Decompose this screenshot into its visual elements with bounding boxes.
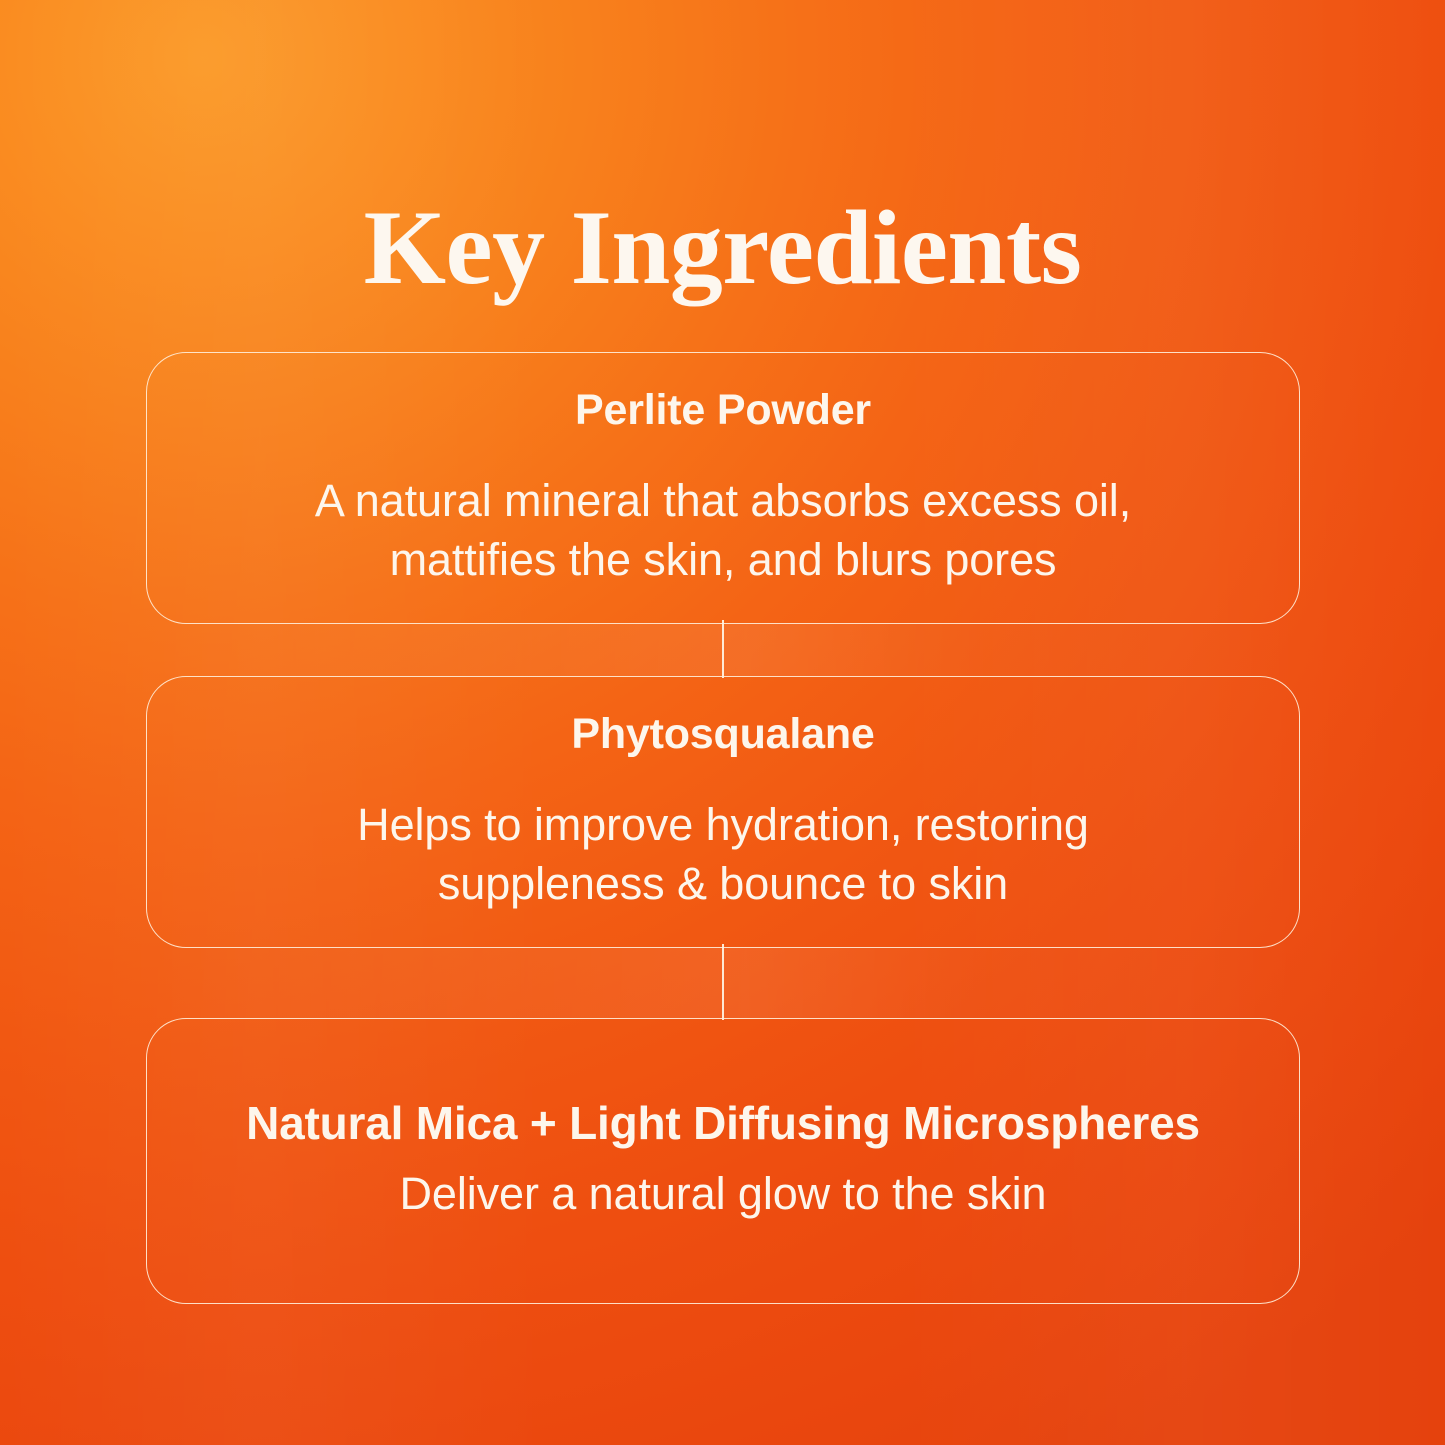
key-ingredients-infographic: Key Ingredients Perlite Powder A natural… [0,0,1445,1445]
ingredient-description-line-1: A natural mineral that absorbs excess oi… [315,472,1131,531]
ingredient-card-natural-mica-microspheres: Natural Mica + Light Diffusing Microsphe… [146,1018,1300,1304]
ingredient-card-perlite-powder: Perlite Powder A natural mineral that ab… [146,352,1300,624]
ingredient-description-line-2: suppleness & bounce to skin [357,855,1089,914]
ingredient-description: A natural mineral that absorbs excess oi… [315,472,1131,589]
connector-line-2 [722,944,724,1020]
ingredient-name: Phytosqualane [571,711,874,758]
ingredient-description: Deliver a natural glow to the skin [400,1165,1047,1224]
ingredient-card-phytosqualane: Phytosqualane Helps to improve hydration… [146,676,1300,948]
ingredient-description-line-1: Helps to improve hydration, restoring [357,796,1089,855]
ingredient-description-line-1: Deliver a natural glow to the skin [400,1165,1047,1224]
connector-line-1 [722,620,724,678]
ingredient-description-line-2: mattifies the skin, and blurs pores [315,531,1131,590]
page-title: Key Ingredients [0,195,1445,301]
ingredient-name: Perlite Powder [575,387,871,434]
ingredient-description: Helps to improve hydration, restoring su… [357,796,1089,913]
ingredient-name: Natural Mica + Light Diffusing Microsphe… [246,1098,1200,1149]
